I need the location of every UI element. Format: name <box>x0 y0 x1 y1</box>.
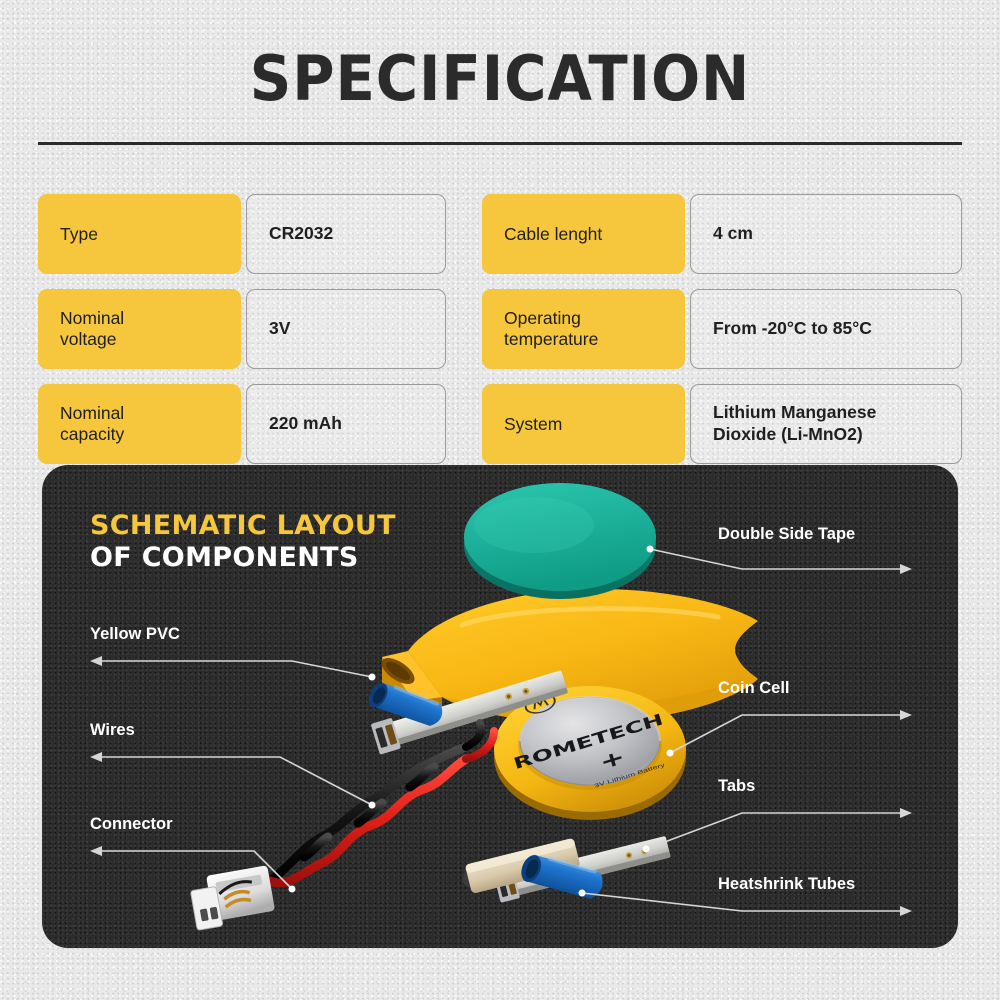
table-row: Nominal capacity 220 mAh <box>38 384 446 464</box>
schematic-panel: ROMETECH + 3V Lithium Battery <box>42 465 958 948</box>
spec-value-cable-length: 4 cm <box>690 194 962 274</box>
callout-tabs: Tabs <box>718 777 755 796</box>
table-row: Type CR2032 <box>38 194 446 274</box>
spec-label-nominal-capacity: Nominal capacity <box>38 384 241 464</box>
schematic-heading: SCHEMATIC LAYOUT OF COMPONENTS <box>90 510 396 574</box>
table-row: Nominal voltage 3V <box>38 289 446 369</box>
spec-label-system: System <box>482 384 685 464</box>
spec-label-cable-length: Cable lenght <box>482 194 685 274</box>
spec-label-nominal-voltage: Nominal voltage <box>38 289 241 369</box>
spec-column-left: Type CR2032 Nominal voltage 3V Nominal c… <box>38 194 446 479</box>
spec-value-system: Lithium Manganese Dioxide (Li-MnO2) <box>690 384 962 464</box>
schematic-heading-line1: SCHEMATIC LAYOUT <box>90 510 396 542</box>
spec-value-type: CR2032 <box>246 194 446 274</box>
spec-value-operating-temperature: From -20°C to 85°C <box>690 289 962 369</box>
callout-yellow-pvc: Yellow PVC <box>90 625 180 644</box>
callout-connector: Connector <box>90 815 173 834</box>
callout-wires: Wires <box>90 721 135 740</box>
callout-double-side-tape: Double Side Tape <box>718 525 855 544</box>
spec-column-right: Cable lenght 4 cm Operating temperature … <box>482 194 962 479</box>
table-row: System Lithium Manganese Dioxide (Li-MnO… <box>482 384 962 464</box>
table-row: Operating temperature From -20°C to 85°C <box>482 289 962 369</box>
callout-coin-cell: Coin Cell <box>718 679 790 698</box>
schematic-heading-line2: OF COMPONENTS <box>90 542 396 574</box>
title-divider <box>38 142 962 145</box>
callout-heatshrink-tubes: Heatshrink Tubes <box>718 875 855 894</box>
table-row: Cable lenght 4 cm <box>482 194 962 274</box>
spec-value-nominal-voltage: 3V <box>246 289 446 369</box>
spec-value-nominal-capacity: 220 mAh <box>246 384 446 464</box>
page-title: SPECIFICATION <box>35 48 965 110</box>
spec-label-operating-temperature: Operating temperature <box>482 289 685 369</box>
spec-label-type: Type <box>38 194 241 274</box>
